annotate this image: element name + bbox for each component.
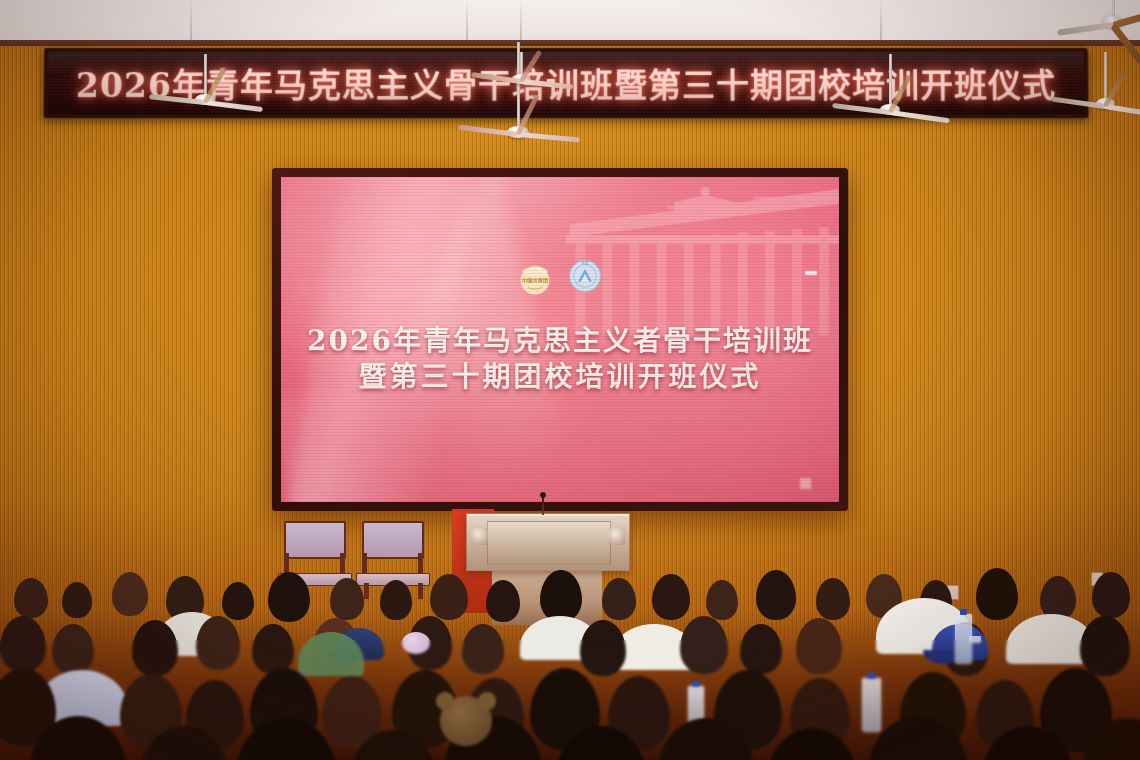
stage-led-screen: 中国共青团 学院 2026年青年马克思主义者骨干培训班 暨第三十期团校培训开班仪… bbox=[281, 177, 839, 502]
screen-title-line-2: 暨第三十期团校培训开班仪式 bbox=[281, 359, 839, 395]
audience-head bbox=[430, 574, 468, 620]
podium-microphone bbox=[542, 495, 544, 515]
auditorium-scene: 2026年青年马克思主义骨干培训班暨第三十期团校培训开班仪式 bbox=[0, 0, 1140, 760]
audience-head bbox=[462, 624, 504, 674]
svg-text:学院: 学院 bbox=[582, 260, 590, 265]
communist-youth-league-emblem: 中国共青团 bbox=[514, 255, 556, 297]
audience-head bbox=[602, 578, 636, 620]
audience-head bbox=[0, 616, 46, 672]
audience-head bbox=[580, 620, 626, 676]
audience-head bbox=[132, 620, 178, 676]
water-bottle[interactable] bbox=[862, 678, 881, 732]
ceiling-fan-6 bbox=[1058, 0, 1140, 52]
audience-head bbox=[740, 624, 782, 674]
ceiling-fan-1 bbox=[150, 54, 260, 134]
audience-head bbox=[652, 574, 690, 620]
audience-head bbox=[976, 568, 1018, 620]
audience-hair-scrunchie bbox=[402, 632, 430, 654]
audience-head bbox=[14, 578, 48, 618]
screen-title: 2026年青年马克思主义者骨干培训班 暨第三十期团校培训开班仪式 bbox=[281, 323, 839, 395]
ceiling-fan-5 bbox=[1050, 52, 1140, 138]
audience-head bbox=[816, 578, 850, 620]
audience-head bbox=[486, 580, 520, 622]
audience-head bbox=[252, 624, 294, 674]
audience-head bbox=[756, 570, 796, 620]
audience-head bbox=[268, 572, 310, 622]
audience-head bbox=[380, 580, 412, 620]
audience-head bbox=[1080, 616, 1130, 676]
screen-corner-tag bbox=[805, 271, 817, 275]
university-emblem: 学院 bbox=[564, 255, 606, 297]
audience-head bbox=[680, 616, 728, 674]
ceiling-fan-3 bbox=[466, 52, 576, 112]
screen-artifact bbox=[800, 478, 811, 489]
audience-head bbox=[330, 578, 364, 620]
screen-title-line-1: 2026年青年马克思主义者骨干培训班 bbox=[281, 323, 839, 359]
audience-head bbox=[706, 580, 738, 620]
stage-led-screen-frame: 中国共青团 学院 2026年青年马克思主义者骨干培训班 暨第三十期团校培训开班仪… bbox=[272, 168, 848, 511]
audience-head bbox=[796, 618, 842, 674]
ceiling-fan-4 bbox=[830, 54, 950, 144]
audience-head bbox=[196, 616, 240, 670]
audience-head bbox=[112, 572, 148, 616]
audience-plush-ear bbox=[478, 692, 496, 710]
audience-head bbox=[62, 582, 92, 618]
audience-plush-ear bbox=[436, 692, 454, 710]
audience bbox=[0, 520, 1140, 760]
water-bottle[interactable] bbox=[955, 614, 972, 664]
audience-head bbox=[540, 570, 582, 622]
emblem-row: 中国共青团 学院 bbox=[281, 255, 839, 297]
audience-head bbox=[222, 582, 254, 620]
audience-head bbox=[52, 624, 94, 674]
audience-head bbox=[1092, 572, 1130, 618]
